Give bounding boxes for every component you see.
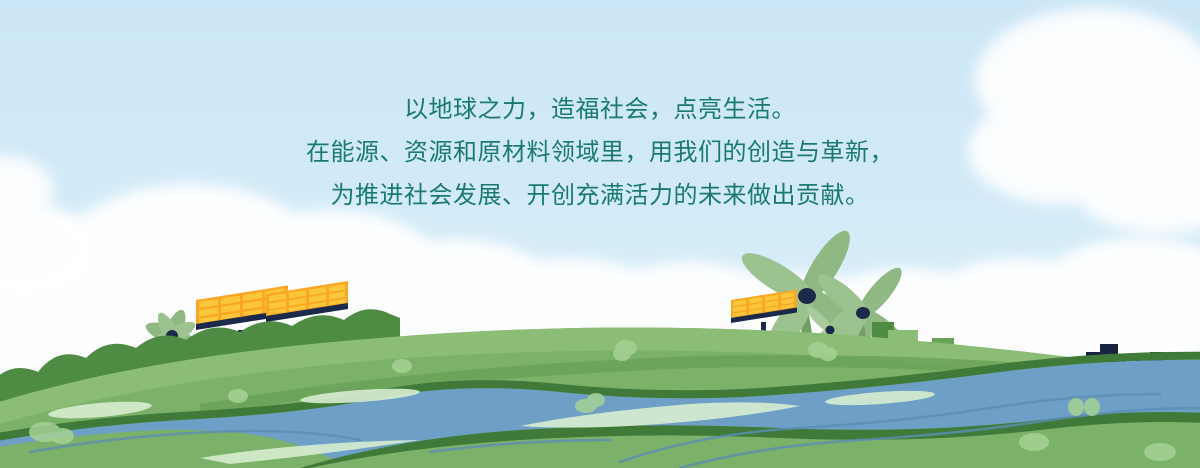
eco-banner: 以地球之力，造福社会，点亮生活。 在能源、资源和原材料领域里，用我们的创造与革新… xyxy=(0,0,1200,468)
landscape-illustration xyxy=(0,0,1200,468)
